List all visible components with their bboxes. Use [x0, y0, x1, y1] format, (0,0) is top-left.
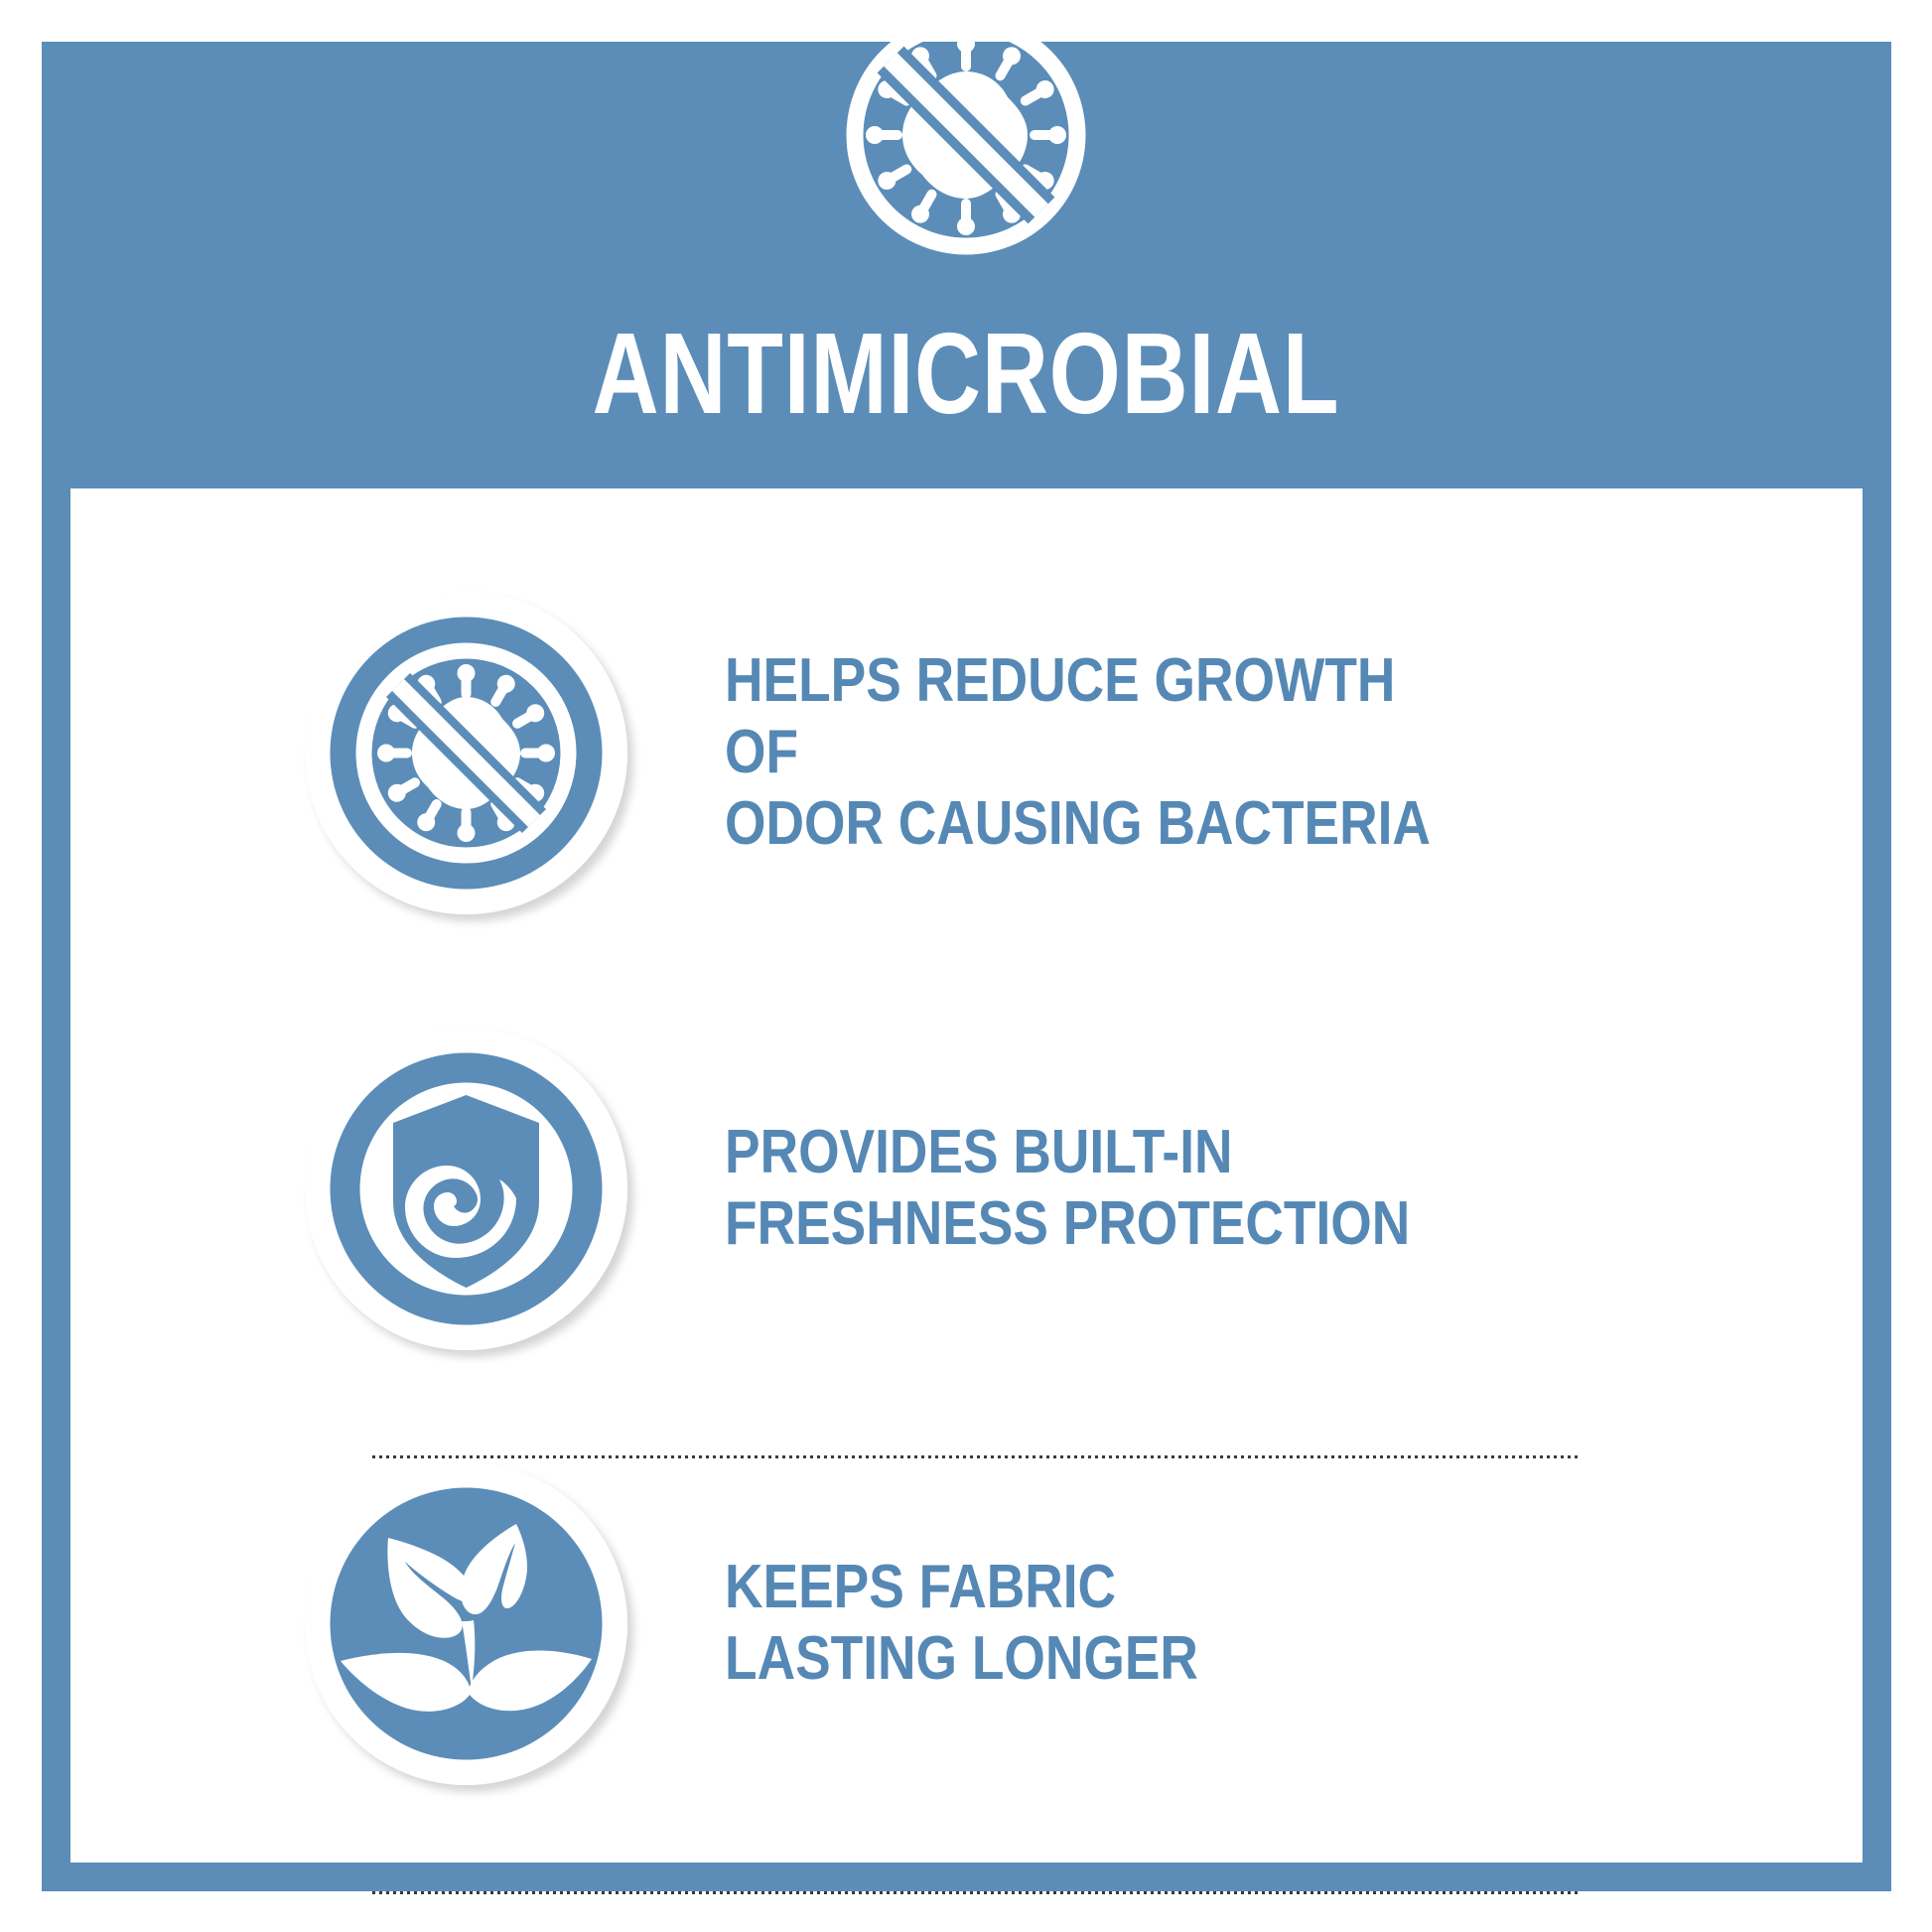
no-bacteria-icon	[839, 8, 1093, 262]
row-divider	[372, 1455, 1579, 1458]
list-item-label: PROVIDES BUILT-IN FRESHNESS PROTECTION	[725, 1117, 1410, 1260]
list-item-label: KEEPS FABRIC LASTING LONGER	[725, 1552, 1198, 1695]
antimicrobial-poster: ANTIMICROBIAL	[0, 0, 1932, 1932]
list-item-label: HELPS REDUCE GROWTH OF ODOR CAUSING BACT…	[725, 645, 1473, 860]
feature-list: HELPS REDUCE GROWTH OF ODOR CAUSING BACT…	[0, 488, 1932, 1863]
list-item: HELPS REDUCE GROWTH OF ODOR CAUSING BACT…	[305, 544, 1595, 961]
leaf-sprout-badge-icon	[305, 1462, 627, 1785]
row-divider	[372, 1891, 1579, 1894]
list-item: KEEPS FABRIC LASTING LONGER	[305, 1415, 1595, 1832]
shield-freshness-badge-icon	[305, 1028, 627, 1350]
list-item: PROVIDES BUILT-IN FRESHNESS PROTECTION	[305, 980, 1595, 1397]
page-title: ANTIMICROBIAL	[194, 316, 1739, 431]
frame-rail-bottom	[42, 1863, 1891, 1891]
no-bacteria-badge-icon	[305, 592, 627, 914]
